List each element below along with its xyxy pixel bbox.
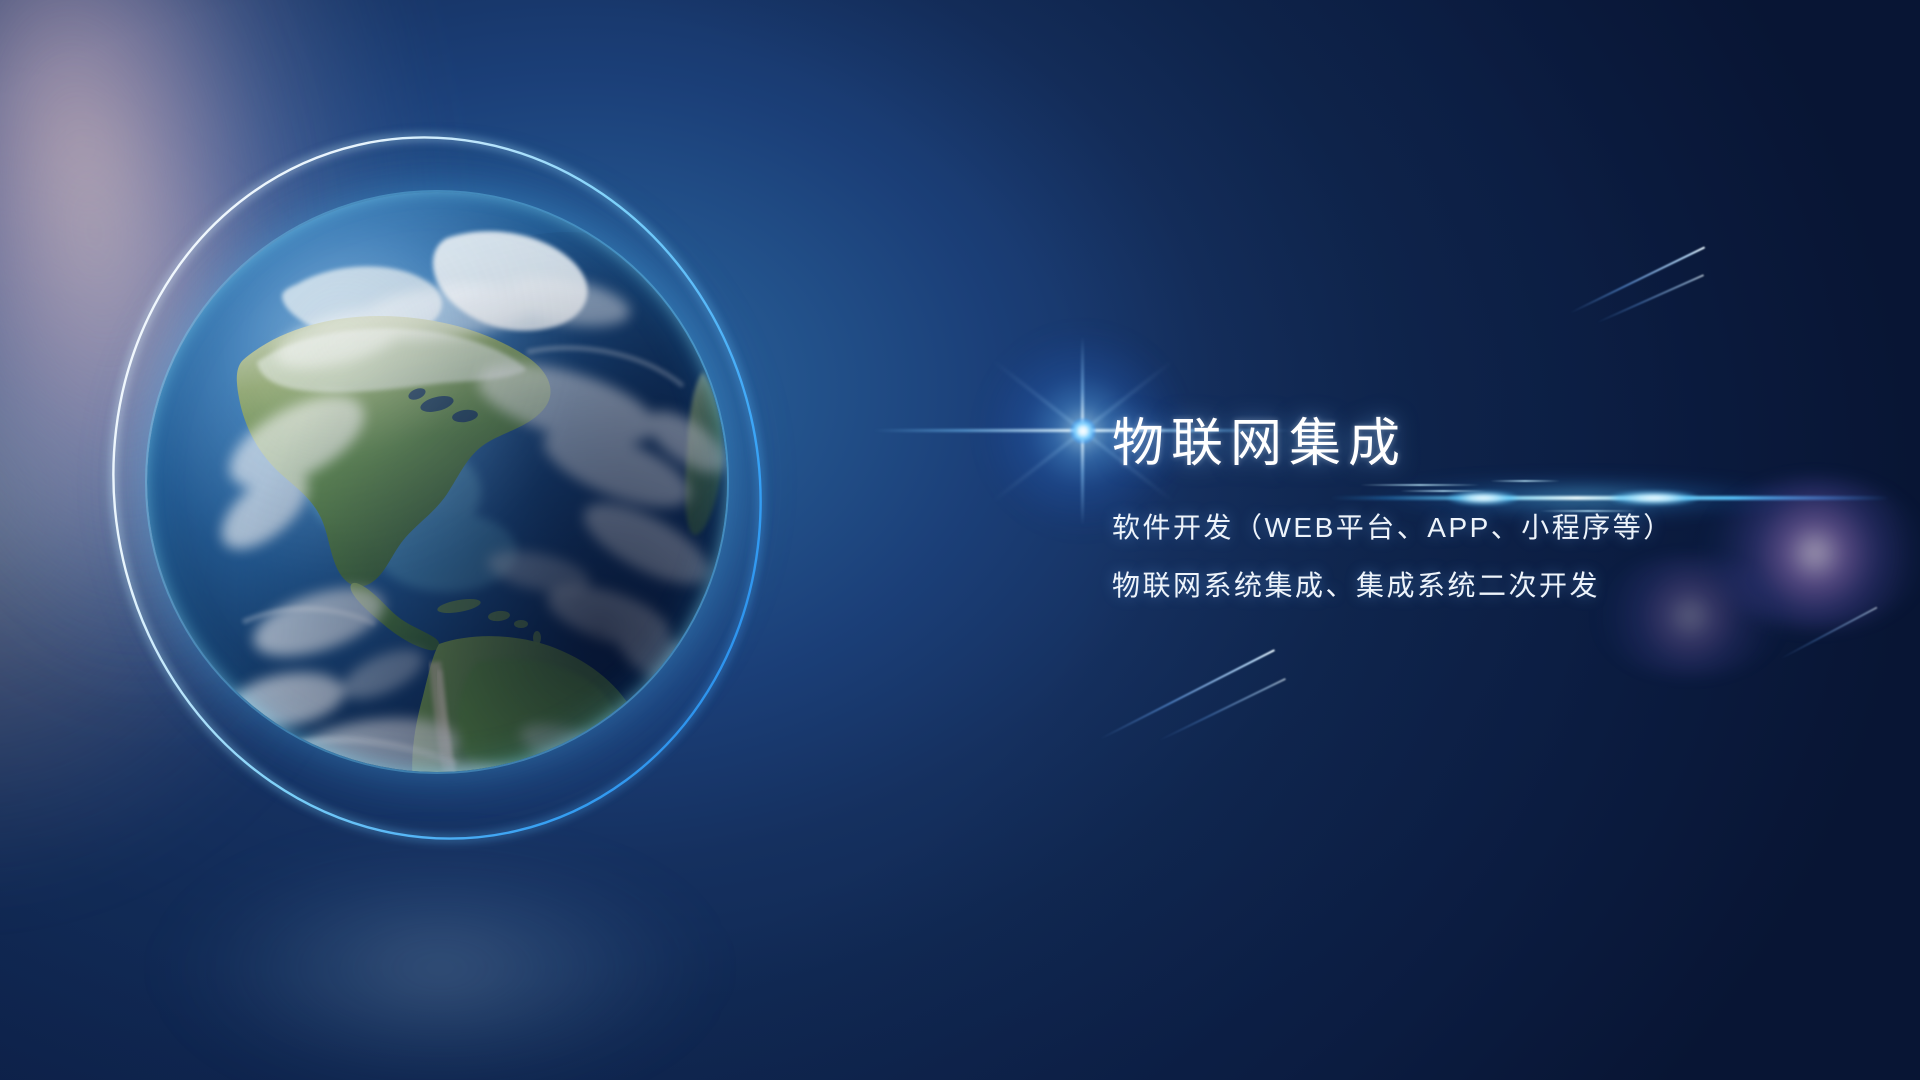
globe-sphere bbox=[147, 192, 727, 772]
banner-subtitle-line-1: 软件开发（WEB平台、APP、小程序等） bbox=[1112, 514, 1852, 542]
hero-banner: 物联网集成 软件开发（WEB平台、APP、小程序等） 物联网系统集成、集成系统二… bbox=[0, 0, 1920, 1080]
banner-copy: 物联网集成 软件开发（WEB平台、APP、小程序等） 物联网系统集成、集成系统二… bbox=[1112, 418, 1852, 600]
banner-title: 物联网集成 bbox=[1112, 418, 1852, 470]
banner-subtitle-line-2: 物联网系统集成、集成系统二次开发 bbox=[1112, 572, 1852, 600]
earth-globe bbox=[147, 192, 727, 772]
